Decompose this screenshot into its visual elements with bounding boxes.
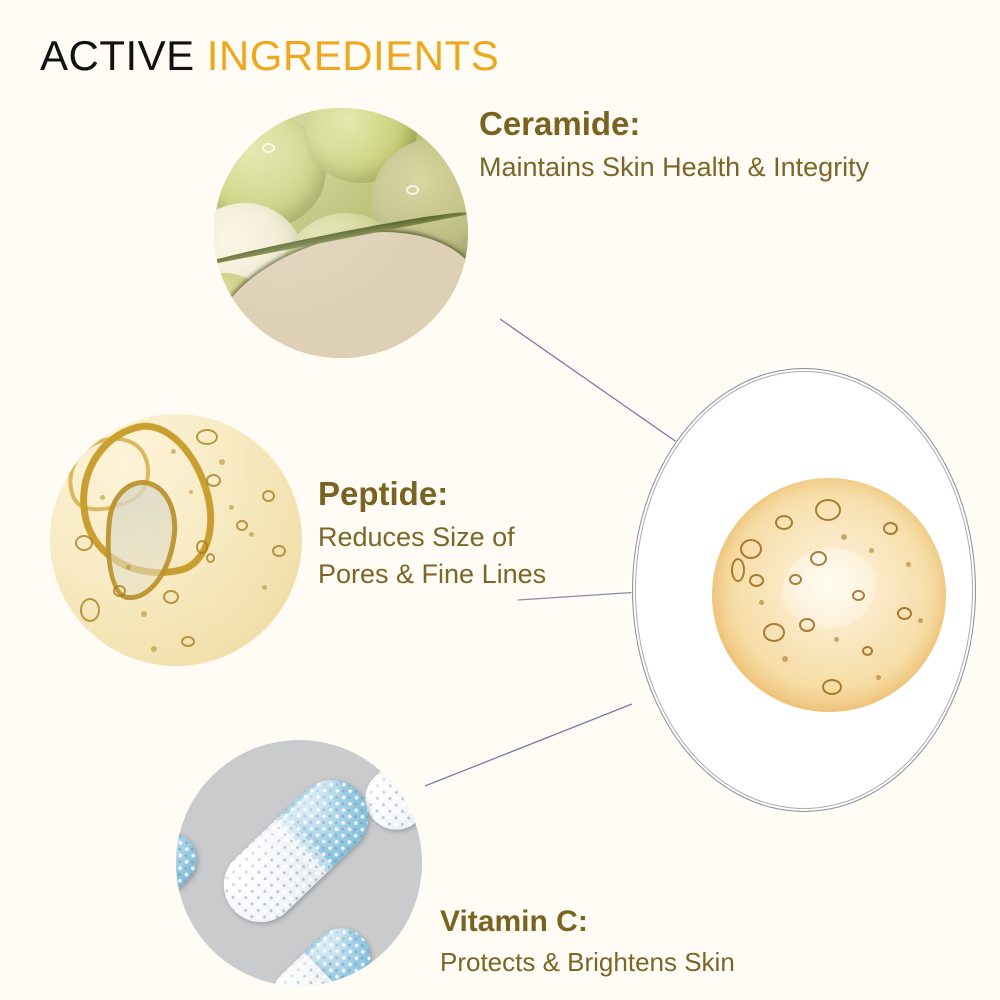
- serum-bubble: [897, 607, 912, 620]
- serum-speck: [869, 548, 874, 553]
- peptide-bubble: [272, 545, 286, 557]
- callout-ceramide: Ceramide: Maintains Skin Health & Integr…: [479, 103, 869, 185]
- peptide-speck: [126, 565, 131, 570]
- connector-line-peptide: [518, 592, 640, 600]
- callout-ceramide-description: Maintains Skin Health & Integrity: [479, 150, 869, 185]
- peptide-speck: [141, 611, 147, 617]
- vitamin-c-swatch: [176, 740, 422, 986]
- serum-bubble: [763, 623, 785, 642]
- peptide-swatch: [50, 414, 302, 666]
- serum-speck: [876, 675, 881, 680]
- page-title: ACTIVEINGREDIENTS: [40, 32, 499, 80]
- callout-peptide-description-line1: Reduces Size of: [318, 520, 546, 555]
- callout-ceramide-title: Ceramide:: [479, 103, 869, 144]
- peptide-bubble: [206, 553, 215, 563]
- peptide-speck: [229, 505, 234, 510]
- connector-line-vitamin-c: [425, 704, 632, 786]
- callout-peptide-description-line2: Pores & Fine Lines: [318, 557, 546, 592]
- peptide-bubble: [262, 490, 275, 502]
- title-word-ingredients: INGREDIENTS: [207, 32, 500, 79]
- ceramide-gloss: [214, 108, 468, 358]
- serum-speck: [782, 656, 788, 662]
- serum-speck: [918, 618, 923, 623]
- serum-bubble: [810, 551, 827, 566]
- serum-speck: [841, 534, 847, 540]
- serum-bubble: [775, 515, 793, 530]
- connector-line-ceramide: [500, 319, 678, 443]
- serum-bubble: [731, 558, 745, 582]
- peptide-speck: [151, 646, 157, 652]
- serum-bubble: [799, 618, 815, 632]
- serum-core-highlight: [782, 548, 876, 628]
- peptide-bubble: [181, 636, 195, 647]
- serum-bubble: [883, 522, 898, 535]
- ceramide-swatch: [214, 108, 468, 358]
- serum-bubble: [862, 646, 873, 656]
- serum-bubble: [749, 574, 764, 587]
- callout-peptide-title: Peptide:: [318, 473, 546, 514]
- serum-speck: [906, 562, 911, 567]
- serum-droplet: [712, 478, 946, 712]
- peptide-bubble: [75, 535, 93, 551]
- callout-peptide: Peptide: Reduces Size of Pores & Fine Li…: [318, 473, 546, 592]
- callout-vitamin-c-description: Protects & Brightens Skin: [440, 946, 735, 980]
- infographic-canvas: ACTIVEINGREDIENTS: [0, 0, 1000, 1000]
- serum-bubble: [740, 539, 762, 559]
- serum-speck: [759, 600, 764, 605]
- serum-speck: [834, 637, 839, 642]
- callout-vitamin-c: Vitamin C: Protects & Brightens Skin: [440, 903, 735, 979]
- title-word-active: ACTIVE: [40, 32, 195, 79]
- serum-bubble: [815, 499, 841, 521]
- callout-vitamin-c-title: Vitamin C:: [440, 903, 735, 941]
- serum-bubble: [822, 679, 842, 695]
- peptide-speck: [189, 490, 193, 494]
